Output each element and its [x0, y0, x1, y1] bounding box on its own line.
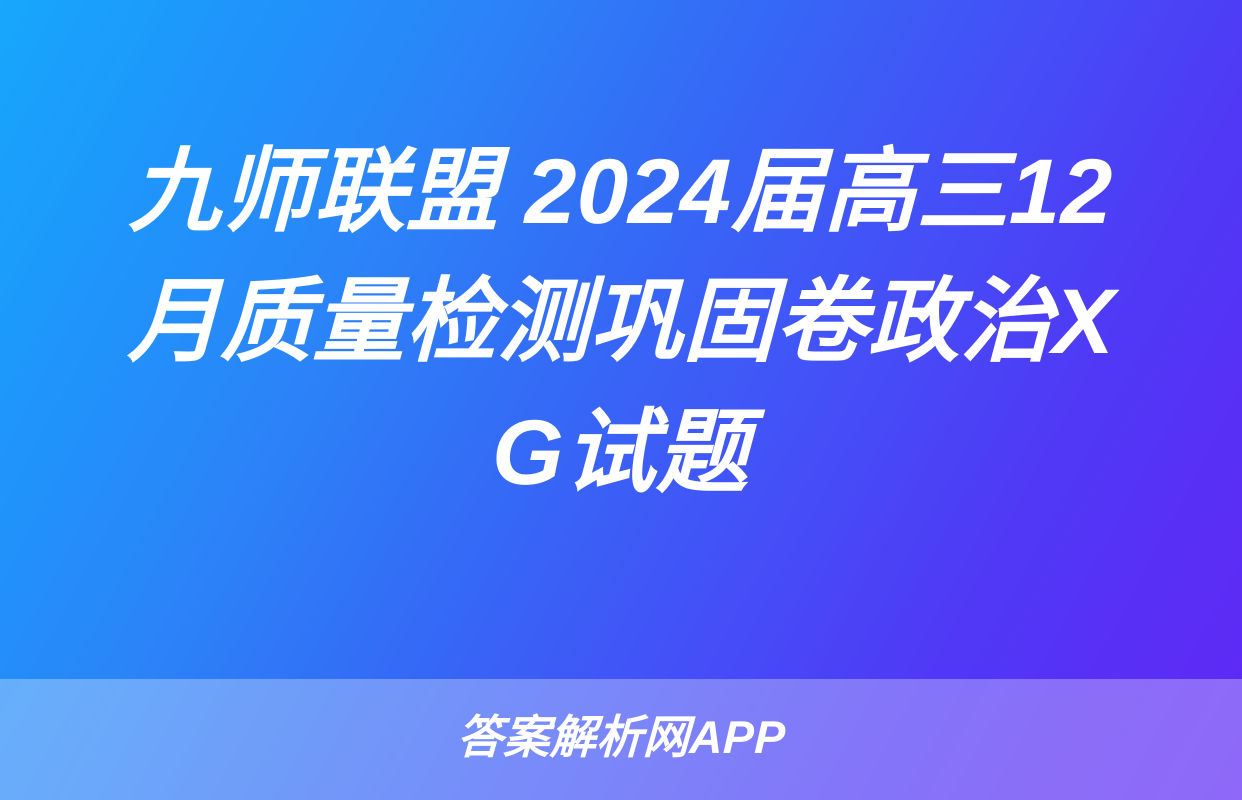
- watermark-brand-label: 答案解析网APP: [456, 714, 786, 760]
- promo-card: 九师联盟 2024届高三12 月质量检测巩固卷政治X G试题 答案解析网APP: [0, 0, 1242, 800]
- title-block: 九师联盟 2024届高三12 月质量检测巩固卷政治X G试题: [0, 0, 1242, 679]
- watermark-band: 答案解析网APP: [0, 679, 1242, 800]
- title-line-2: 月质量检测巩固卷政治X: [126, 257, 1115, 388]
- title-line-1: 九师联盟 2024届高三12: [128, 127, 1114, 258]
- title-line-3: G试题: [491, 388, 750, 519]
